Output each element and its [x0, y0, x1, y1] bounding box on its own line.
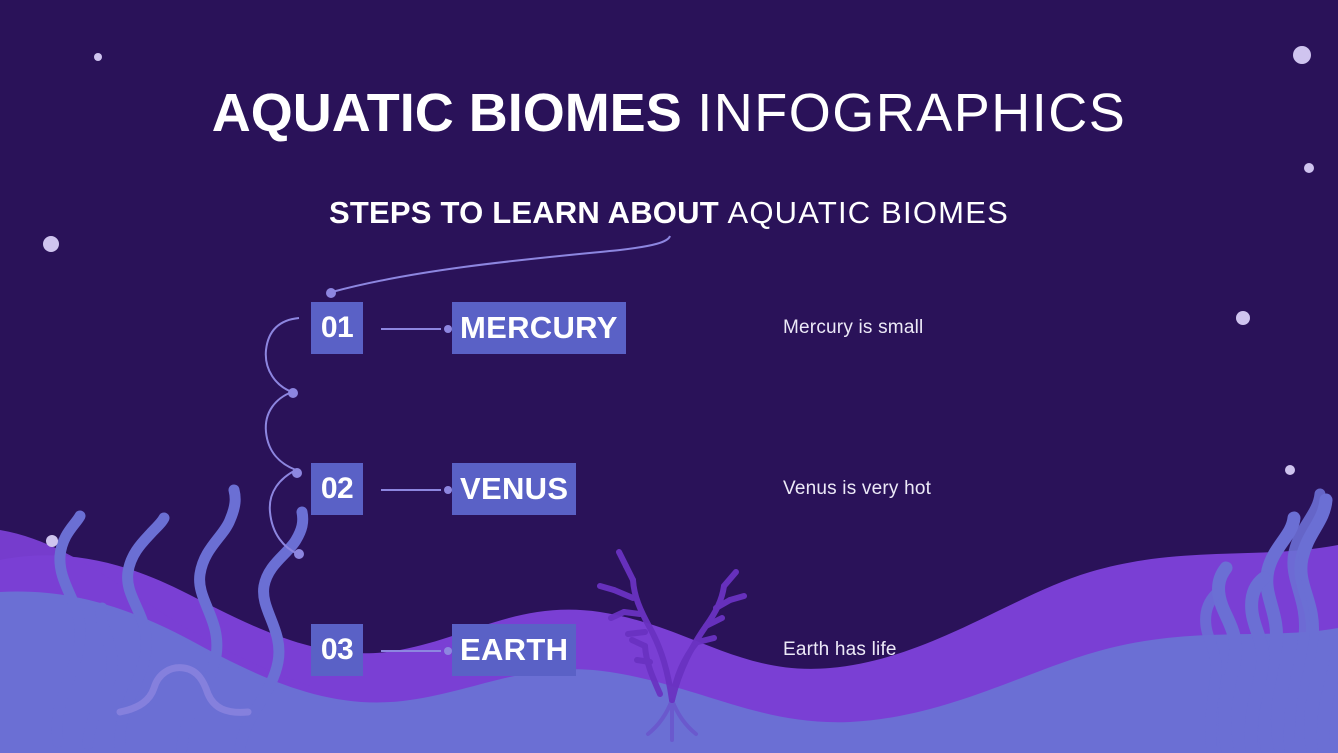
step-description: Mercury is small [783, 302, 923, 354]
connector-dot-icon [444, 647, 452, 655]
step-connector [381, 649, 452, 653]
connector-line [381, 328, 441, 330]
step-number-badge[interactable]: 01 [311, 302, 363, 354]
page-subtitle: STEPS TO LEARN ABOUT AQUATIC BIOMES [0, 193, 1338, 233]
subtitle-bold-part: STEPS TO LEARN ABOUT [329, 195, 719, 230]
connector-line [381, 650, 441, 652]
step-label[interactable]: EARTH [452, 624, 576, 676]
page-title: AQUATIC BIOMES INFOGRAPHICS [0, 82, 1338, 144]
slide-aquatic-biomes-infographics: AQUATIC BIOMES INFOGRAPHICS STEPS TO LEA… [0, 0, 1338, 753]
slide-content: AQUATIC BIOMES INFOGRAPHICS STEPS TO LEA… [0, 0, 1338, 753]
step-row[interactable]: 02 VENUS Venus is very hot [0, 370, 1338, 450]
step-row[interactable]: 04 MARS Mars is cold [0, 530, 1338, 610]
title-light-part: INFOGRAPHICS [697, 83, 1126, 143]
step-row[interactable]: 03 EARTH Earth has life [0, 450, 1338, 530]
step-number-badge[interactable]: 03 [311, 624, 363, 676]
step-row[interactable]: 01 MERCURY Mercury is small [0, 290, 1338, 370]
title-bold-part: AQUATIC BIOMES [212, 83, 682, 143]
subtitle-light-part: AQUATIC BIOMES [727, 195, 1008, 230]
connector-dot-icon [444, 325, 452, 333]
step-label[interactable]: MERCURY [452, 302, 626, 354]
step-connector [381, 327, 452, 331]
steps-list: 01 MERCURY Mercury is small 02 VENUS Ven… [0, 290, 1338, 610]
step-description: Earth has life [783, 624, 897, 676]
